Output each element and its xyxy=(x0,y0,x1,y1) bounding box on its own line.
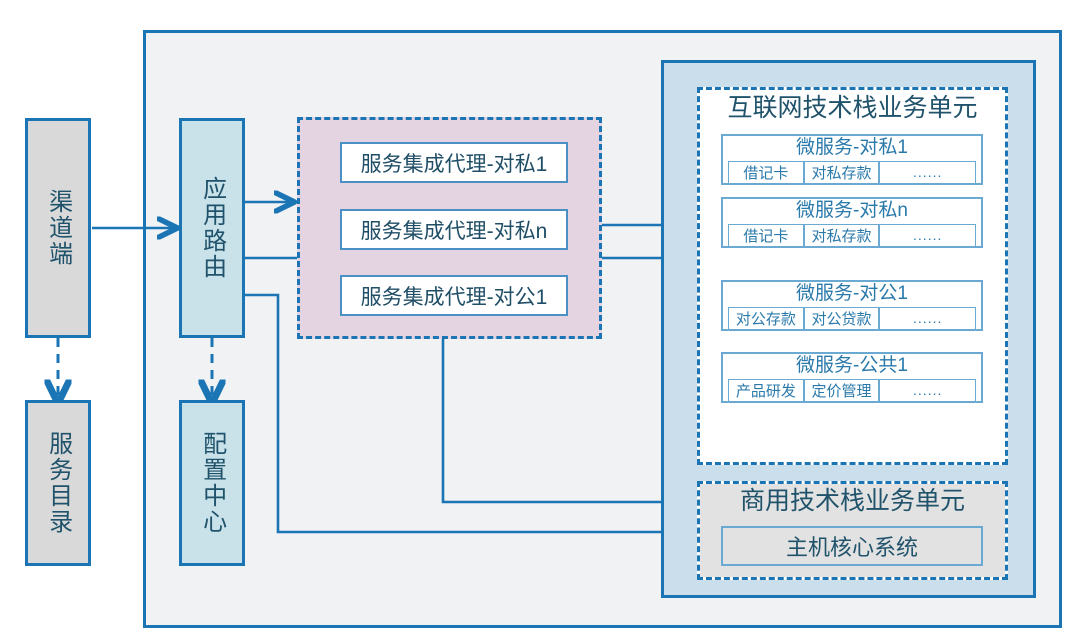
microservice-card-private-1[interactable]: 微服务-对私1 借记卡 对私存款 ...... xyxy=(721,134,983,185)
agent-label: 服务集成代理-对私n xyxy=(361,215,548,245)
microservice-tag[interactable]: ...... xyxy=(879,161,976,184)
app-routing-node[interactable]: 应用路由 xyxy=(179,118,245,338)
service-directory-label: 服务目录 xyxy=(45,431,70,535)
app-routing-label: 应用路由 xyxy=(199,176,224,280)
microservice-tag[interactable]: 借记卡 xyxy=(728,224,804,247)
microservice-card-corporate-1[interactable]: 微服务-对公1 对公存款 对公贷款 ...... xyxy=(721,280,983,331)
microservice-tags: 产品研发 定价管理 ...... xyxy=(723,379,981,402)
microservice-tag[interactable]: 对公贷款 xyxy=(804,307,880,330)
service-agent-zone: 服务集成代理-对私1 服务集成代理-对私n 服务集成代理-对公1 xyxy=(297,117,602,339)
microservice-tag[interactable]: ...... xyxy=(879,307,976,330)
channel-node[interactable]: 渠道端 xyxy=(25,118,91,338)
commercial-stack-unit-title: 商用技术栈业务单元 xyxy=(700,488,1005,516)
microservice-title: 微服务-对私n xyxy=(723,200,981,222)
microservice-tag[interactable]: 产品研发 xyxy=(728,379,804,402)
microservice-tag[interactable]: 对私存款 xyxy=(804,224,880,247)
microservice-tag[interactable]: 对私存款 xyxy=(804,161,880,184)
microservice-tag[interactable]: ...... xyxy=(879,379,976,402)
config-center-node[interactable]: 配置中心 xyxy=(179,400,245,566)
microservice-tags: 借记卡 对私存款 ...... xyxy=(723,161,981,184)
microservice-card-private-n[interactable]: 微服务-对私n 借记卡 对私存款 ...... xyxy=(721,197,983,248)
microservice-title: 微服务-公共1 xyxy=(723,355,981,377)
microservice-tags: 借记卡 对私存款 ...... xyxy=(723,224,981,247)
host-core-system-box[interactable]: 主机核心系统 xyxy=(721,526,983,566)
internet-stack-unit: 互联网技术栈业务单元 微服务-对私1 借记卡 对私存款 ...... 微服务-对… xyxy=(697,87,1008,465)
architecture-diagram: 渠道端 服务目录 应用路由 配置中心 服务集成代理-对私1 服务集成代理-对私n… xyxy=(0,0,1078,642)
microservice-tag[interactable]: 借记卡 xyxy=(728,161,804,184)
microservice-tag[interactable]: 对公存款 xyxy=(728,307,804,330)
microservice-title: 微服务-对私1 xyxy=(723,137,981,159)
config-center-label: 配置中心 xyxy=(199,431,224,535)
microservice-tag[interactable]: 定价管理 xyxy=(804,379,880,402)
agent-box-private-n[interactable]: 服务集成代理-对私n xyxy=(340,209,568,250)
agent-label: 服务集成代理-对公1 xyxy=(361,281,548,311)
agent-label: 服务集成代理-对私1 xyxy=(361,148,548,178)
microservice-tag[interactable]: ...... xyxy=(879,224,976,247)
channel-label: 渠道端 xyxy=(45,189,70,267)
business-stack-panel: 互联网技术栈业务单元 微服务-对私1 借记卡 对私存款 ...... 微服务-对… xyxy=(661,60,1036,598)
host-core-system-label: 主机核心系统 xyxy=(786,530,918,562)
commercial-stack-unit: 商用技术栈业务单元 主机核心系统 xyxy=(697,481,1008,580)
service-directory-node[interactable]: 服务目录 xyxy=(25,400,91,566)
microservice-tags: 对公存款 对公贷款 ...... xyxy=(723,307,981,330)
internet-stack-unit-title: 互联网技术栈业务单元 xyxy=(700,95,1005,123)
microservice-title: 微服务-对公1 xyxy=(723,283,981,305)
microservice-card-public-1[interactable]: 微服务-公共1 产品研发 定价管理 ...... xyxy=(721,352,983,403)
agent-box-corporate-1[interactable]: 服务集成代理-对公1 xyxy=(340,275,568,316)
agent-box-private-1[interactable]: 服务集成代理-对私1 xyxy=(340,142,568,183)
